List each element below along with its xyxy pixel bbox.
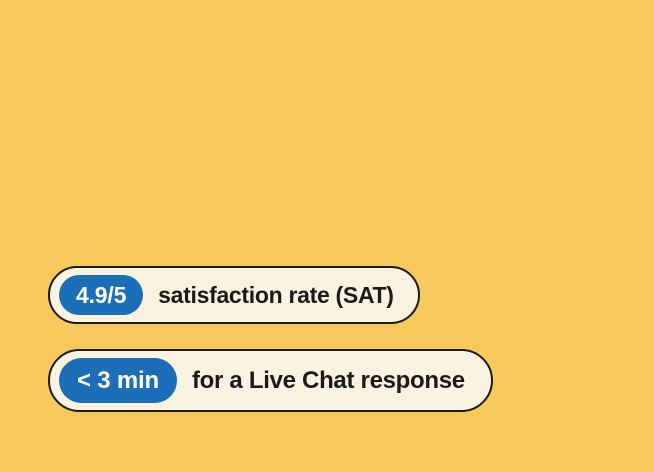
stat-badge-value: 4.9/5 (59, 275, 143, 315)
stats-pill-list: 4.9/5 satisfaction rate (SAT) < 3 min fo… (48, 266, 493, 412)
stat-badge-value: < 3 min (59, 358, 177, 403)
stat-pill-live-chat-response: < 3 min for a Live Chat response (48, 349, 493, 412)
promo-canvas: 4.9/5 satisfaction rate (SAT) < 3 min fo… (0, 0, 654, 472)
stat-label-text: satisfaction rate (SAT) (158, 282, 394, 309)
stat-pill-satisfaction-rate: 4.9/5 satisfaction rate (SAT) (48, 266, 420, 324)
stat-label-text: for a Live Chat response (192, 367, 465, 395)
